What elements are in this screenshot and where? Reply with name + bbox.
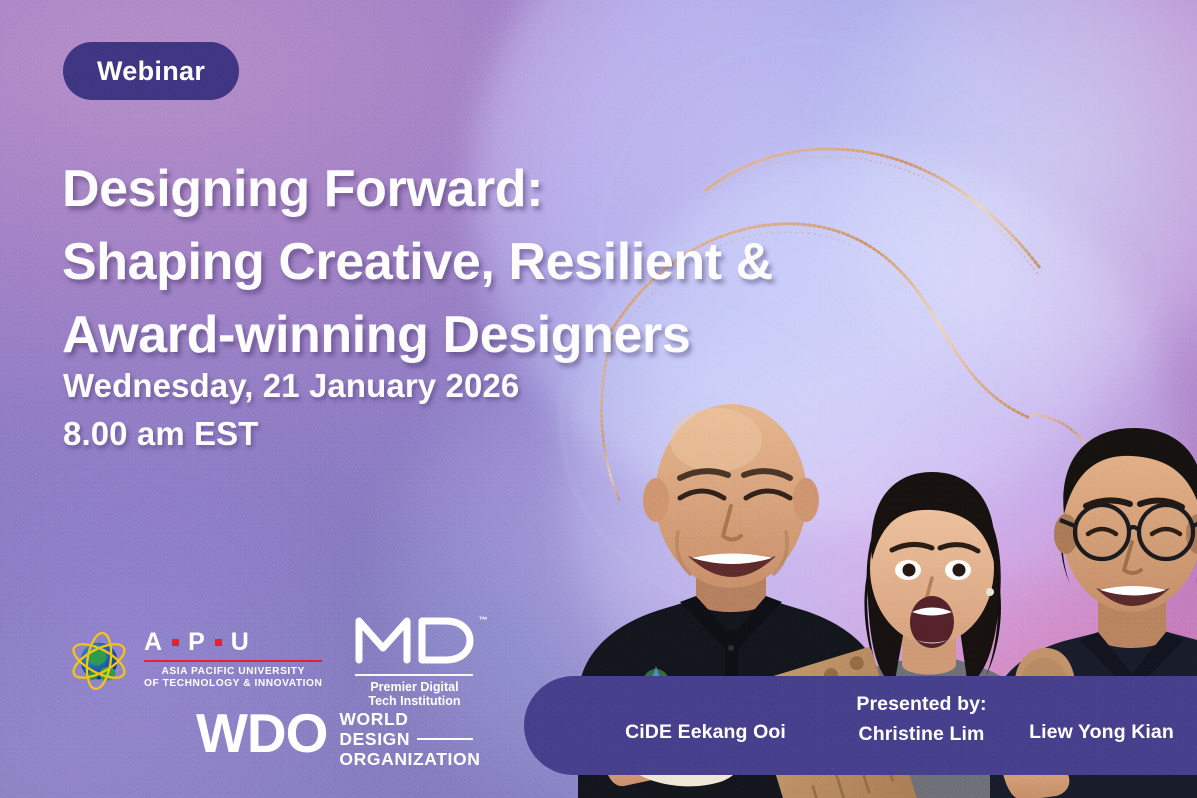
globe-atom-icon	[68, 629, 130, 691]
wdo-line-design-label: DESIGN	[339, 729, 410, 749]
apu-letter-a: A	[144, 630, 163, 655]
apu-divider-rule	[144, 660, 322, 662]
apu-wordmark: A P U ASIA PACIFIC UNIVERSITY OF TECHNOL…	[144, 630, 322, 690]
md-divider-rule	[355, 674, 473, 676]
webinar-badge-label: Webinar	[97, 56, 205, 87]
speaker-name-2: Christine Lim	[859, 723, 985, 745]
presented-by-label: Presented by:	[814, 693, 1029, 716]
speaker-name-1: CiDE Eekang Ooi	[598, 721, 813, 744]
md-logo: ™ Premier Digital Tech Institution	[352, 614, 476, 709]
wdo-logo: WDO WORLD DESIGN ORGANIZATION	[196, 706, 480, 769]
speaker-name-3: Liew Yong Kian	[994, 721, 1197, 744]
partner-logos: A P U ASIA PACIFIC UNIVERSITY OF TECHNOL…	[68, 612, 476, 709]
page-title: Designing Forward: Shaping Creative, Res…	[62, 153, 902, 372]
apu-separator-dot-2	[215, 639, 222, 646]
apu-separator-dot-1	[172, 639, 179, 646]
apu-logo: A P U ASIA PACIFIC UNIVERSITY OF TECHNOL…	[68, 629, 322, 691]
md-monogram: ™	[352, 614, 476, 669]
wdo-line-world: WORLD	[339, 709, 480, 729]
wdo-dash-rule	[417, 738, 473, 741]
event-datetime: Wednesday, 21 January 2026 8.00 am EST	[63, 362, 519, 458]
event-date: Wednesday, 21 January 2026	[63, 362, 519, 410]
md-trademark-symbol: ™	[478, 615, 487, 625]
wdo-line-design: DESIGN	[339, 729, 480, 749]
apu-subtitle-line-2: OF TECHNOLOGY & INNOVATION	[144, 678, 322, 690]
apu-subtitle-line-1: ASIA PACIFIC UNIVERSITY	[144, 666, 322, 678]
speakers-banner-inner: CiDE Eekang Ooi Presented by: Christine …	[524, 676, 1197, 775]
title-line-1: Designing Forward:	[62, 153, 902, 226]
apu-letter-p: P	[188, 630, 206, 655]
wdo-fullname: WORLD DESIGN ORGANIZATION	[339, 706, 480, 769]
event-time: 8.00 am EST	[63, 410, 519, 458]
wdo-wordmark: WDO	[196, 706, 327, 761]
title-line-3: Award-winning Designers	[62, 299, 902, 372]
apu-letter-u: U	[231, 630, 250, 655]
webinar-badge: Webinar	[63, 42, 239, 100]
wdo-line-organization: ORGANIZATION	[339, 749, 480, 769]
speakers-banner: CiDE Eekang Ooi Presented by: Christine …	[524, 676, 1197, 775]
md-monogram-icon	[352, 614, 476, 664]
apu-letters: A P U	[144, 630, 322, 655]
md-subtitle-line-1: Premier Digital	[370, 680, 458, 695]
webinar-poster: Webinar Designing Forward: Shaping Creat…	[0, 0, 1197, 798]
title-line-2: Shaping Creative, Resilient &	[62, 226, 902, 299]
